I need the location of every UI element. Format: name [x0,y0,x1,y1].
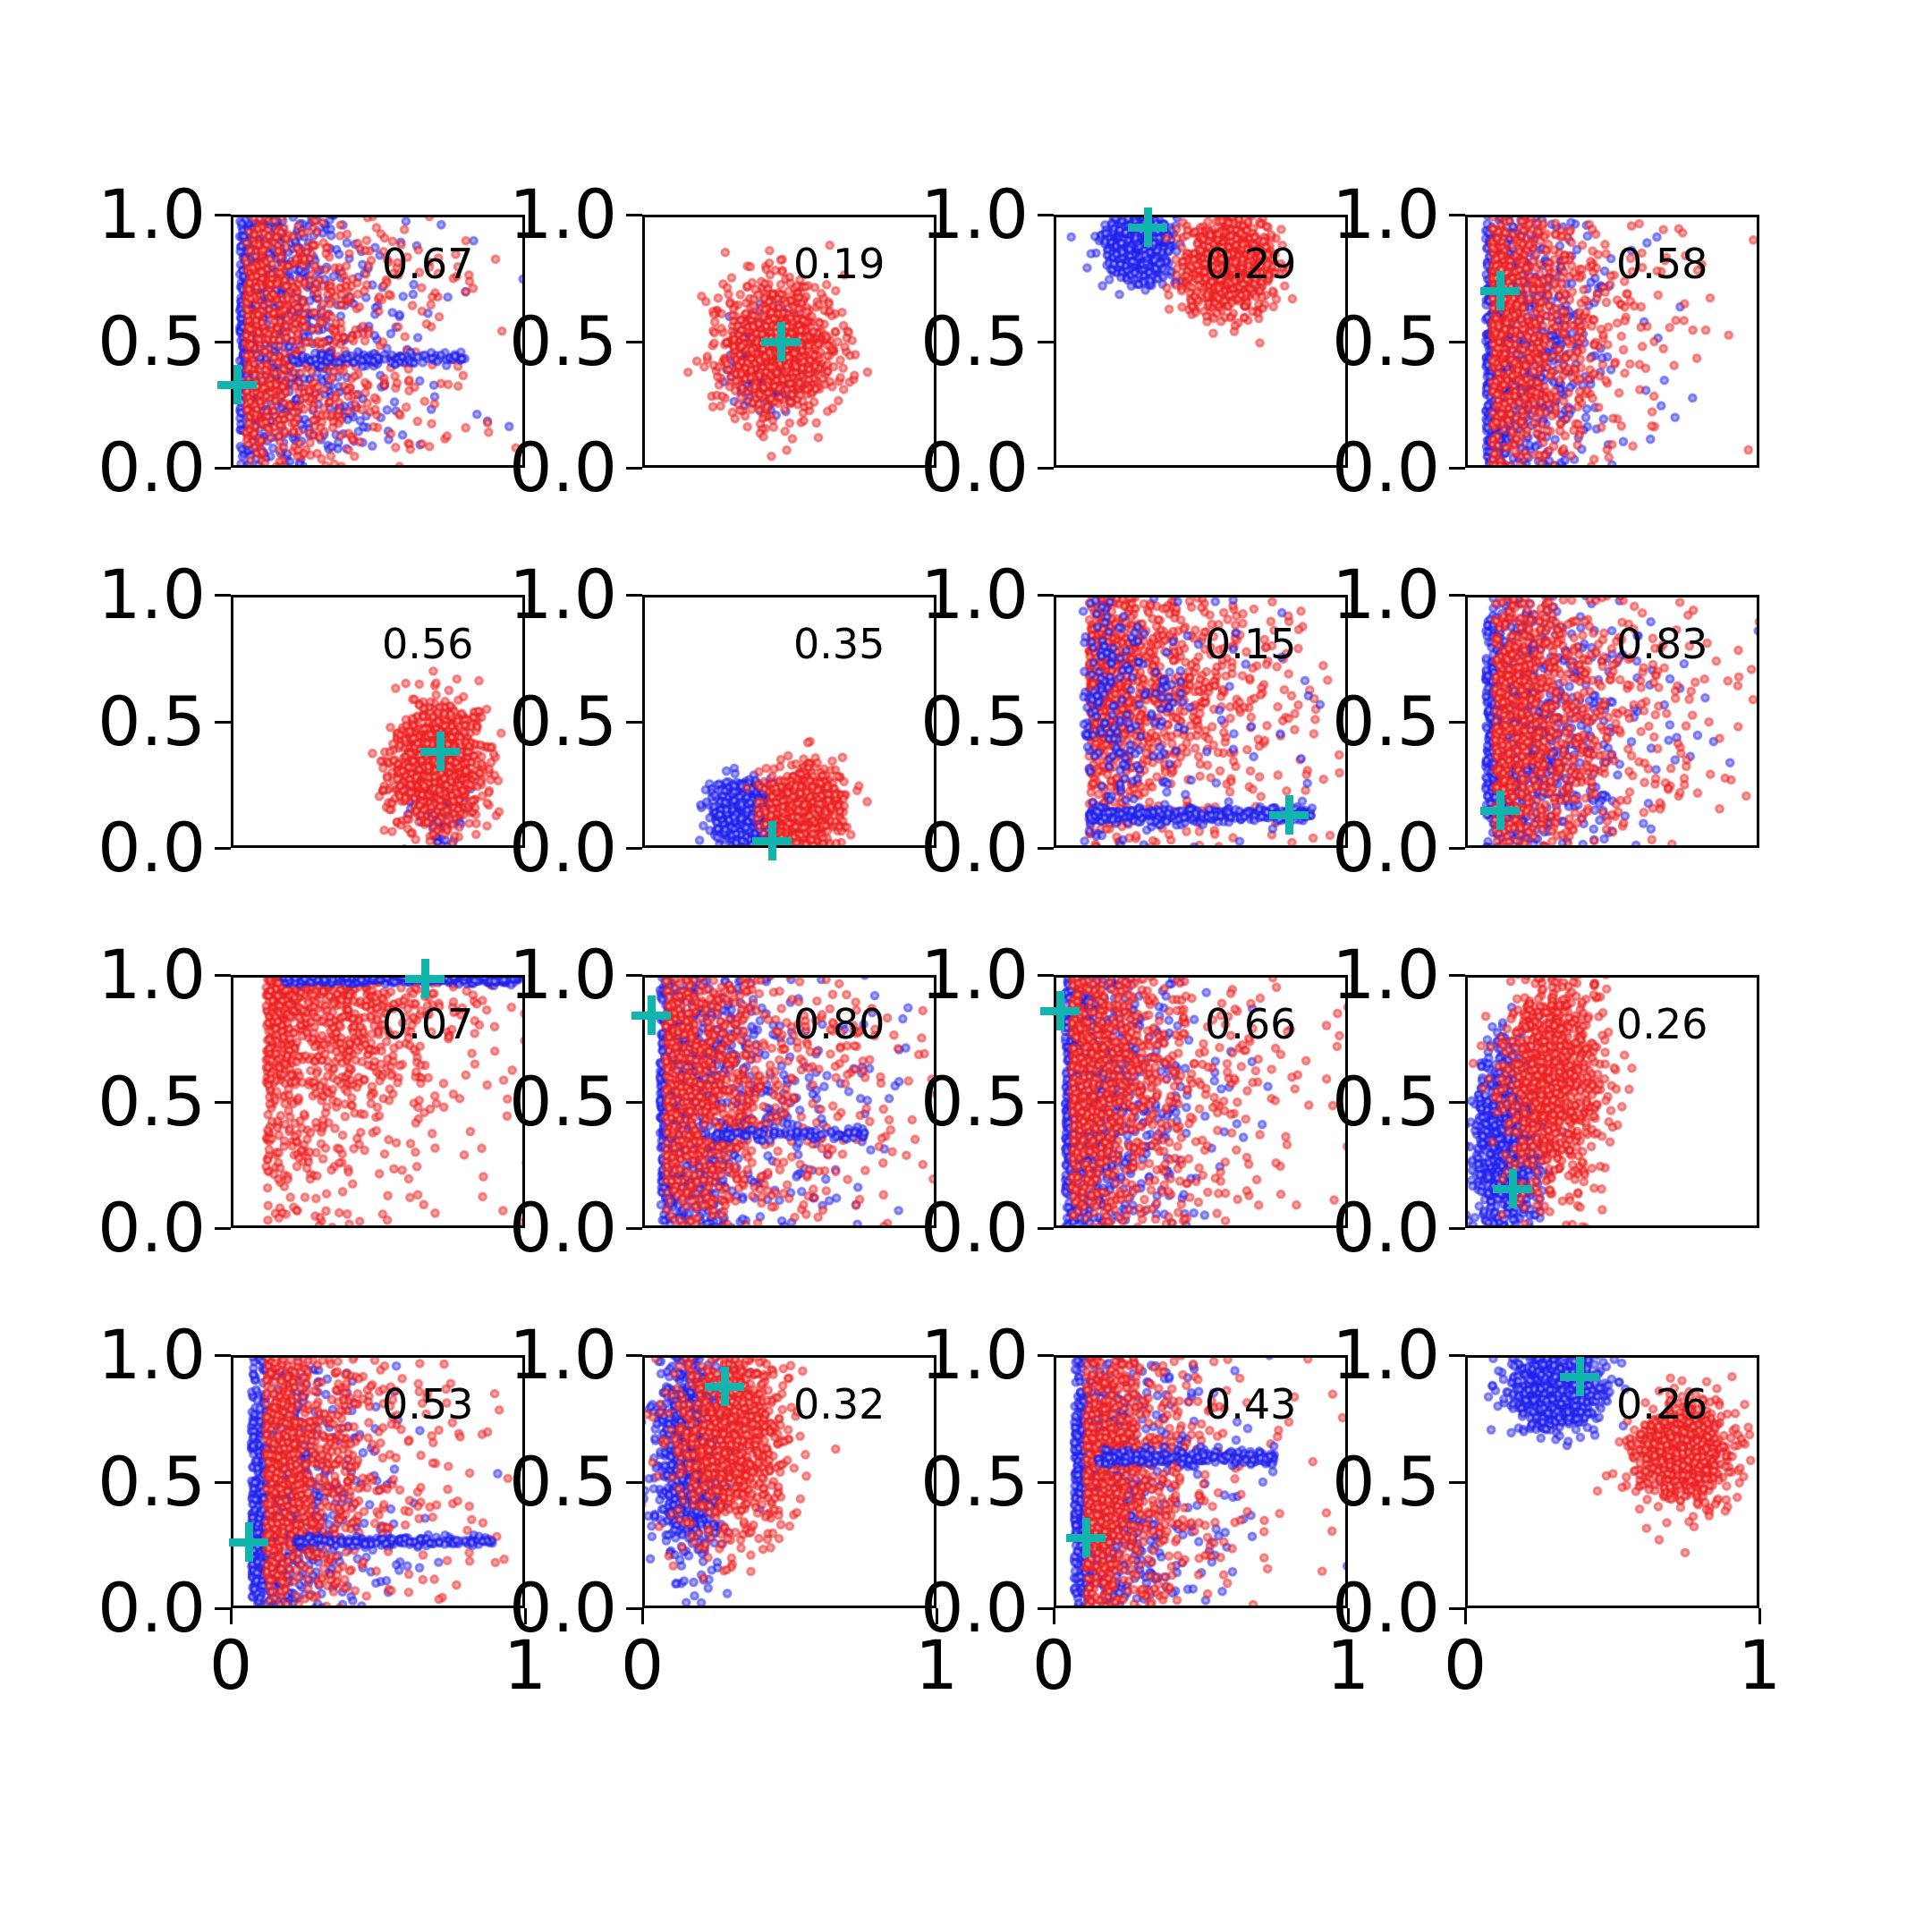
x-tick-mark [641,1608,644,1624]
figure-canvas: 0.670.00.51.00.190.00.51.00.290.00.51.00… [0,0,1932,1932]
y-tick-mark [626,1481,642,1484]
y-tick-label: 1.0 [438,181,617,249]
y-tick-mark [626,341,642,343]
y-tick-mark [1449,847,1465,850]
y-tick-label: 0.0 [1261,1194,1440,1262]
y-tick-label: 1.0 [438,941,617,1009]
y-tick-mark [1038,214,1054,216]
y-tick-label: 0.5 [850,1068,1029,1136]
y-tick-label: 1.0 [1261,941,1440,1009]
y-tick-label: 1.0 [438,1321,617,1389]
panel-annotation-value: 0.56 [382,623,473,665]
y-tick-mark [215,1607,231,1610]
panel-annotation-value: 0.67 [382,243,473,284]
y-tick-label: 0.5 [1261,688,1440,756]
y-tick-mark [1449,1101,1465,1104]
y-tick-mark [215,721,231,724]
y-tick-mark [1449,1481,1465,1484]
x-tick-mark [230,1608,233,1624]
y-tick-mark [626,847,642,850]
panel-annotation-value: 0.26 [1616,1384,1707,1425]
y-tick-mark [215,847,231,850]
y-tick-mark [215,1227,231,1230]
x-tick-label: 1 [874,1631,999,1699]
panel-annotation-value: 0.15 [1205,623,1296,665]
panel-annotation-value: 0.35 [793,623,885,665]
y-tick-mark [626,974,642,977]
scatter-subplot [1465,1355,1759,1608]
y-tick-mark [1038,847,1054,850]
y-tick-mark [215,1481,231,1484]
panel-annotation-value: 0.58 [1616,243,1707,284]
y-tick-label: 1.0 [27,181,206,249]
y-tick-label: 0.0 [850,1194,1029,1262]
y-tick-label: 1.0 [438,561,617,629]
y-tick-mark [1038,1227,1054,1230]
y-tick-mark [1038,594,1054,597]
panel-annotation-value: 0.66 [1205,1004,1296,1045]
y-tick-mark [1449,1227,1465,1230]
panel-annotation-value: 0.80 [793,1004,885,1045]
x-tick-label: 1 [462,1631,588,1699]
y-tick-mark [626,594,642,597]
y-tick-label: 1.0 [1261,181,1440,249]
scatter-points-layer [1465,975,1759,1228]
y-tick-label: 0.0 [850,814,1029,882]
y-tick-mark [626,1227,642,1230]
x-tick-label: 0 [168,1631,293,1699]
y-tick-mark [626,721,642,724]
scatter-points-layer [1465,1355,1759,1608]
y-tick-mark [626,214,642,216]
y-tick-label: 0.5 [438,1448,617,1516]
y-tick-label: 0.5 [1261,308,1440,376]
y-tick-mark [1038,1481,1054,1484]
y-tick-label: 0.0 [438,814,617,882]
y-tick-mark [1038,1607,1054,1610]
y-tick-label: 1.0 [850,561,1029,629]
y-tick-label: 0.5 [1261,1068,1440,1136]
y-tick-mark [1038,467,1054,470]
scatter-points-layer [1465,595,1759,848]
y-tick-label: 0.5 [438,1068,617,1136]
x-tick-mark [1464,1608,1467,1624]
y-tick-mark [215,341,231,343]
y-tick-mark [1449,467,1465,470]
panel-annotation-value: 0.32 [793,1384,885,1425]
panel-annotation-value: 0.83 [1616,623,1707,665]
x-tick-label: 0 [580,1631,705,1699]
scatter-points-layer [1465,215,1759,468]
scatter-subplot [1465,595,1759,848]
y-tick-mark [1038,1354,1054,1357]
y-tick-label: 0.5 [27,1068,206,1136]
y-tick-mark [1038,721,1054,724]
y-tick-mark [215,214,231,216]
y-tick-mark [215,467,231,470]
y-tick-label: 0.5 [1261,1448,1440,1516]
y-tick-mark [1449,1354,1465,1357]
y-tick-label: 0.5 [850,1448,1029,1516]
y-tick-label: 1.0 [27,561,206,629]
panel-annotation-value: 0.53 [382,1384,473,1425]
y-tick-label: 0.5 [438,308,617,376]
x-tick-label: 0 [1402,1631,1528,1699]
y-tick-label: 1.0 [850,941,1029,1009]
y-tick-label: 0.0 [27,814,206,882]
y-tick-mark [215,594,231,597]
y-tick-mark [1449,594,1465,597]
scatter-subplot [1465,975,1759,1228]
y-tick-label: 0.0 [438,1194,617,1262]
y-tick-label: 0.5 [438,688,617,756]
y-tick-label: 0.5 [850,308,1029,376]
x-tick-mark [1053,1608,1055,1624]
x-tick-label: 1 [1697,1631,1822,1699]
y-tick-mark [1038,341,1054,343]
y-tick-label: 0.0 [1261,814,1440,882]
x-tick-label: 0 [991,1631,1116,1699]
y-tick-mark [1449,214,1465,216]
y-tick-mark [1038,1101,1054,1104]
panel-annotation-value: 0.29 [1205,243,1296,284]
panel-annotation-value: 0.26 [1616,1004,1707,1045]
y-tick-mark [1449,341,1465,343]
y-tick-mark [626,1354,642,1357]
y-tick-label: 1.0 [27,1321,206,1389]
x-tick-label: 1 [1285,1631,1411,1699]
panel-annotation-value: 0.43 [1205,1384,1296,1425]
panel-annotation-value: 0.07 [382,1004,473,1045]
y-tick-label: 1.0 [27,941,206,1009]
y-tick-label: 1.0 [1261,1321,1440,1389]
y-tick-mark [626,467,642,470]
scatter-subplot [1465,215,1759,468]
y-tick-label: 0.0 [438,434,617,502]
y-tick-label: 1.0 [1261,561,1440,629]
panel-annotation-value: 0.19 [793,243,885,284]
y-tick-label: 0.5 [27,688,206,756]
y-tick-label: 0.5 [27,1448,206,1516]
x-tick-mark [1758,1608,1761,1624]
y-tick-mark [1038,974,1054,977]
y-tick-mark [215,1354,231,1357]
y-tick-mark [215,974,231,977]
y-tick-label: 0.5 [850,688,1029,756]
y-tick-label: 0.5 [27,308,206,376]
y-tick-label: 1.0 [850,1321,1029,1389]
y-tick-label: 0.0 [27,434,206,502]
y-tick-label: 0.0 [850,434,1029,502]
y-tick-mark [1449,1607,1465,1610]
y-tick-mark [626,1607,642,1610]
y-tick-label: 1.0 [850,181,1029,249]
y-tick-label: 0.0 [27,1194,206,1262]
y-tick-mark [215,1101,231,1104]
y-tick-mark [626,1101,642,1104]
y-tick-mark [1449,721,1465,724]
y-tick-label: 0.0 [1261,434,1440,502]
y-tick-mark [1449,974,1465,977]
